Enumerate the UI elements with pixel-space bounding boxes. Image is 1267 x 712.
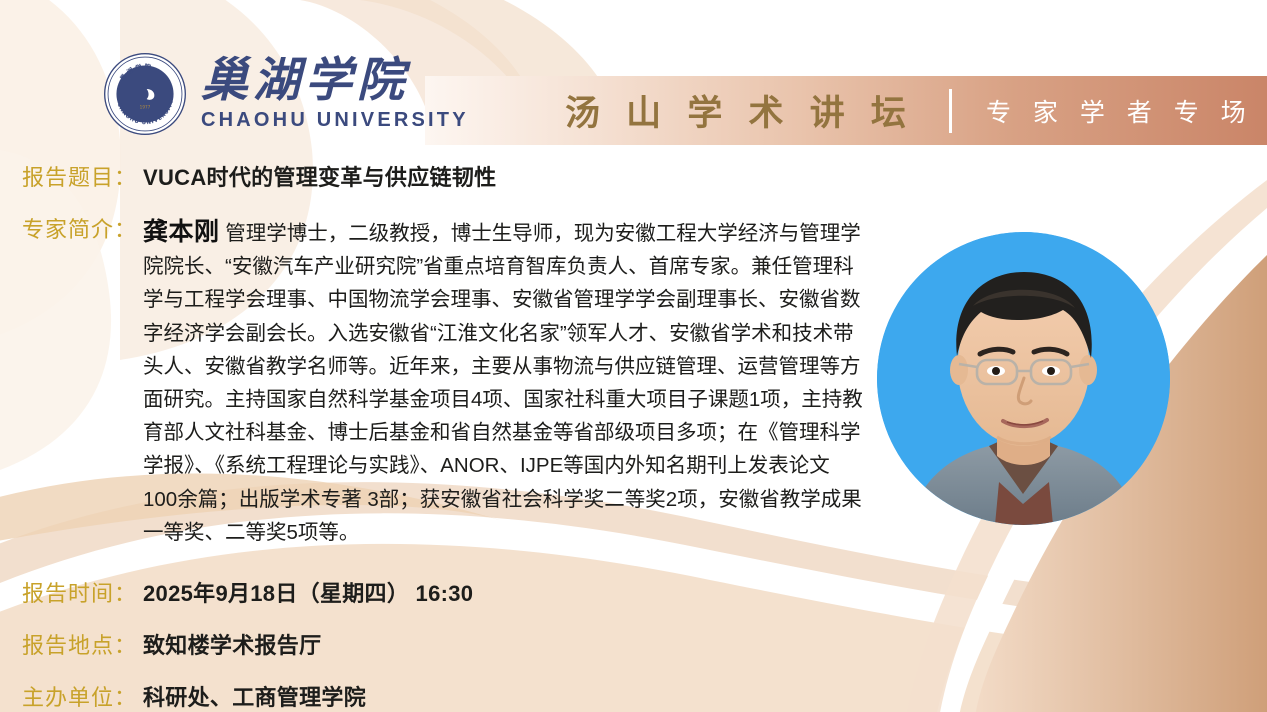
speaker-portrait xyxy=(877,232,1170,525)
value-lecture-title: VUCA时代的管理变革与供应链韧性 xyxy=(143,160,496,192)
row-lecture-place: 报告地点： 致知楼学术报告厅 xyxy=(22,628,321,660)
value-organizer: 科研处、工商管理学院 xyxy=(143,680,366,712)
banner-subtitle: 专 家 学 者 专 场 xyxy=(986,93,1253,129)
svg-text:1977: 1977 xyxy=(140,104,151,109)
row-lecture-time: 报告时间： 2025年9月18日（星期四） 16:30 xyxy=(22,576,473,608)
chaohu-university-emblem-icon: 1977 巢 湖 学 院 CHAOHU UNIVERSITY xyxy=(103,52,187,136)
speaker-bio-block: 龚本刚 管理学博士，二级教授，博士生导师，现为安徽工程大学经济与管理学院院长、“… xyxy=(143,212,863,549)
poster-canvas: 1977 巢 湖 学 院 CHAOHU UNIVERSITY 巢湖学院 CHAO… xyxy=(0,0,1267,712)
row-organizer: 主办单位： 科研处、工商管理学院 xyxy=(22,680,366,712)
label-lecture-title: 报告题目： xyxy=(22,160,143,192)
label-speaker-bio: 专家简介： xyxy=(22,212,143,244)
label-lecture-time: 报告时间： xyxy=(22,576,143,608)
banner-divider xyxy=(949,89,952,133)
value-lecture-time: 2025年9月18日（星期四） 16:30 xyxy=(143,576,473,608)
logo-name-en: CHAOHU UNIVERSITY xyxy=(201,109,469,132)
value-lecture-place: 致知楼学术报告厅 xyxy=(143,628,321,660)
row-lecture-title: 报告题目： VUCA时代的管理变革与供应链韧性 xyxy=(22,160,496,192)
row-speaker-bio: 专家简介： 龚本刚 管理学博士，二级教授，博士生导师，现为安徽工程大学经济与管理… xyxy=(22,212,863,549)
label-organizer: 主办单位： xyxy=(22,680,143,712)
speaker-name: 龚本刚 xyxy=(143,218,220,246)
banner-title: 汤 山 学 术 讲 坛 xyxy=(565,85,913,136)
university-logo: 1977 巢 湖 学 院 CHAOHU UNIVERSITY 巢湖学院 CHAO… xyxy=(103,52,469,136)
logo-name-cn: 巢湖学院 xyxy=(201,53,409,108)
speaker-bio-text: 管理学博士，二级教授，博士生导师，现为安徽工程大学经济与管理学院院长、“安徽汽车… xyxy=(143,222,863,544)
label-lecture-place: 报告地点： xyxy=(22,628,143,660)
forum-banner: 汤 山 学 术 讲 坛 专 家 学 者 专 场 xyxy=(425,76,1267,145)
